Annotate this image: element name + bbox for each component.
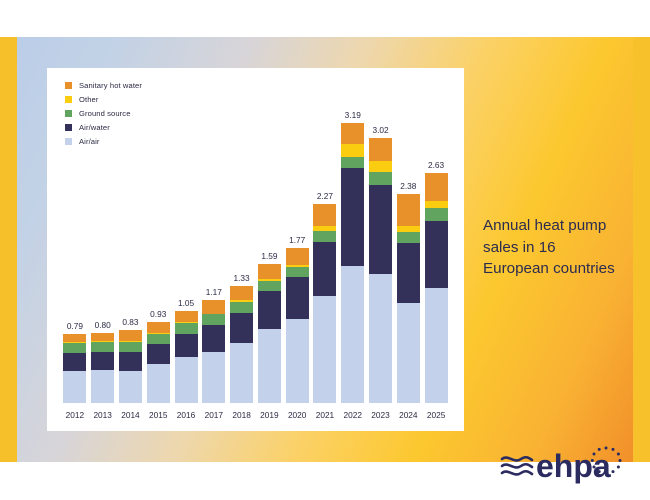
bar-value-label: 3.19 bbox=[345, 110, 361, 120]
x-axis-tick-label: 2012 bbox=[66, 410, 84, 420]
bar-segment bbox=[258, 264, 281, 280]
bar-segment bbox=[341, 144, 364, 156]
bar-segment bbox=[175, 311, 198, 322]
bar-segment bbox=[425, 288, 448, 403]
bar-segment bbox=[63, 343, 86, 354]
x-axis-tick-label: 2021 bbox=[316, 410, 334, 420]
bar-segment bbox=[230, 302, 253, 313]
bar-segment bbox=[286, 319, 309, 403]
bar-column[interactable]: 1.592019 bbox=[258, 264, 281, 403]
bar-segment bbox=[369, 185, 392, 274]
bar-value-label: 0.79 bbox=[67, 321, 83, 331]
bar-segment bbox=[313, 296, 336, 403]
bar-segment bbox=[341, 123, 364, 144]
bar-segment bbox=[286, 277, 309, 319]
bar-column[interactable]: 0.792012 bbox=[63, 334, 86, 403]
bar-value-label: 2.38 bbox=[400, 181, 416, 191]
chart-plot-area: 0.7920120.8020130.8320140.9320151.052016… bbox=[47, 68, 464, 431]
chart-card: Sanitary hot waterOtherGround sourceAir/… bbox=[47, 68, 464, 431]
slide-right-border bbox=[633, 37, 650, 462]
bar-segment bbox=[369, 138, 392, 161]
bar-column[interactable]: 1.332018 bbox=[230, 286, 253, 403]
bar-stack bbox=[147, 322, 170, 404]
bar-segment bbox=[230, 343, 253, 403]
bar-segment bbox=[313, 231, 336, 242]
bar-value-label: 1.05 bbox=[178, 298, 194, 308]
bar-segment bbox=[313, 242, 336, 296]
bar-stack bbox=[286, 248, 309, 403]
bar-segment bbox=[341, 168, 364, 266]
bar-column[interactable]: 0.802013 bbox=[91, 333, 114, 403]
svg-text:ehpa: ehpa bbox=[536, 448, 611, 484]
bar-segment bbox=[175, 323, 198, 334]
x-axis-tick-label: 2025 bbox=[427, 410, 445, 420]
bar-segment bbox=[119, 330, 142, 341]
bar-segment bbox=[425, 173, 448, 202]
bar-value-label: 1.77 bbox=[289, 235, 305, 245]
slide-left-border bbox=[0, 37, 17, 462]
bar-segment bbox=[230, 286, 253, 300]
bar-segment bbox=[202, 352, 225, 403]
bar-segment bbox=[286, 248, 309, 266]
bar-value-label: 2.63 bbox=[428, 160, 444, 170]
bar-stack bbox=[119, 330, 142, 403]
bar-segment bbox=[202, 325, 225, 352]
slide-caption: Annual heat pump sales in 16 European co… bbox=[483, 215, 623, 280]
bar-segment bbox=[147, 364, 170, 403]
bar-segment bbox=[230, 313, 253, 343]
bar-stack bbox=[425, 173, 448, 404]
bar-column[interactable]: 2.382024 bbox=[397, 194, 420, 403]
bar-segment bbox=[258, 281, 281, 291]
x-axis-tick-label: 2023 bbox=[371, 410, 389, 420]
bar-segment bbox=[286, 267, 309, 277]
bar-value-label: 0.93 bbox=[150, 309, 166, 319]
bar-segment bbox=[91, 370, 114, 403]
bar-segment bbox=[258, 291, 281, 330]
x-axis-tick-label: 2014 bbox=[121, 410, 139, 420]
x-axis-tick-label: 2019 bbox=[260, 410, 278, 420]
bar-value-label: 1.33 bbox=[234, 273, 250, 283]
bar-segment bbox=[397, 194, 420, 226]
bar-column[interactable]: 3.192022 bbox=[341, 123, 364, 403]
bar-column[interactable]: 1.172017 bbox=[202, 300, 225, 403]
bar-segment bbox=[369, 274, 392, 403]
ehpa-logo: ehpa bbox=[500, 444, 625, 486]
bar-stack bbox=[63, 334, 86, 403]
bar-value-label: 0.83 bbox=[122, 317, 138, 327]
bar-segment bbox=[313, 204, 336, 226]
bar-segment bbox=[341, 266, 364, 403]
bar-segment bbox=[369, 172, 392, 185]
bar-segment bbox=[369, 161, 392, 172]
bar-stack bbox=[230, 286, 253, 403]
x-axis-tick-label: 2020 bbox=[288, 410, 306, 420]
bar-column[interactable]: 2.632025 bbox=[425, 173, 448, 404]
slide-canvas: Sanitary hot waterOtherGround sourceAir/… bbox=[0, 37, 650, 462]
bar-stack bbox=[341, 123, 364, 403]
bar-segment bbox=[63, 334, 86, 342]
x-axis-tick-label: 2018 bbox=[232, 410, 250, 420]
bar-value-label: 2.27 bbox=[317, 191, 333, 201]
bar-segment bbox=[202, 300, 225, 313]
bar-value-label: 0.80 bbox=[95, 320, 111, 330]
bar-stack bbox=[175, 311, 198, 403]
bar-segment bbox=[91, 352, 114, 370]
bar-segment bbox=[258, 329, 281, 403]
bar-segment bbox=[63, 371, 86, 403]
bar-segment bbox=[425, 221, 448, 288]
bar-segment bbox=[397, 232, 420, 243]
bar-segment bbox=[202, 314, 225, 325]
bar-segment bbox=[119, 342, 142, 353]
bar-segment bbox=[147, 334, 170, 345]
bar-segment bbox=[119, 352, 142, 370]
x-axis-tick-label: 2022 bbox=[344, 410, 362, 420]
x-axis-tick-label: 2024 bbox=[399, 410, 417, 420]
bar-value-label: 1.17 bbox=[206, 287, 222, 297]
bar-stack bbox=[369, 138, 392, 403]
bar-segment bbox=[147, 344, 170, 363]
bar-value-label: 3.02 bbox=[372, 125, 388, 135]
bar-segment bbox=[91, 342, 114, 353]
bar-column[interactable]: 1.052016 bbox=[175, 311, 198, 403]
x-axis-tick-label: 2016 bbox=[177, 410, 195, 420]
bar-segment bbox=[397, 243, 420, 303]
bar-segment bbox=[341, 157, 364, 168]
bar-segment bbox=[119, 371, 142, 403]
bar-segment bbox=[147, 322, 170, 333]
bar-segment bbox=[175, 334, 198, 357]
x-axis-tick-label: 2017 bbox=[205, 410, 223, 420]
x-axis-tick-label: 2013 bbox=[93, 410, 111, 420]
x-axis-tick-label: 2015 bbox=[149, 410, 167, 420]
bar-segment bbox=[91, 333, 114, 341]
bar-column[interactable]: 1.772020 bbox=[286, 248, 309, 403]
bar-segment bbox=[425, 201, 448, 208]
bar-stack bbox=[313, 204, 336, 403]
bar-segment bbox=[175, 357, 198, 403]
bar-stack bbox=[91, 333, 114, 403]
bar-column[interactable]: 3.022023 bbox=[369, 138, 392, 403]
bar-column[interactable]: 0.832014 bbox=[119, 330, 142, 403]
bar-stack bbox=[397, 194, 420, 403]
bar-segment bbox=[425, 208, 448, 220]
bar-value-label: 1.59 bbox=[261, 251, 277, 261]
bar-stack bbox=[258, 264, 281, 403]
bar-segment bbox=[63, 353, 86, 371]
bar-column[interactable]: 2.272021 bbox=[313, 204, 336, 403]
bar-column[interactable]: 0.932015 bbox=[147, 322, 170, 404]
bar-segment bbox=[397, 303, 420, 403]
bar-stack bbox=[202, 300, 225, 403]
